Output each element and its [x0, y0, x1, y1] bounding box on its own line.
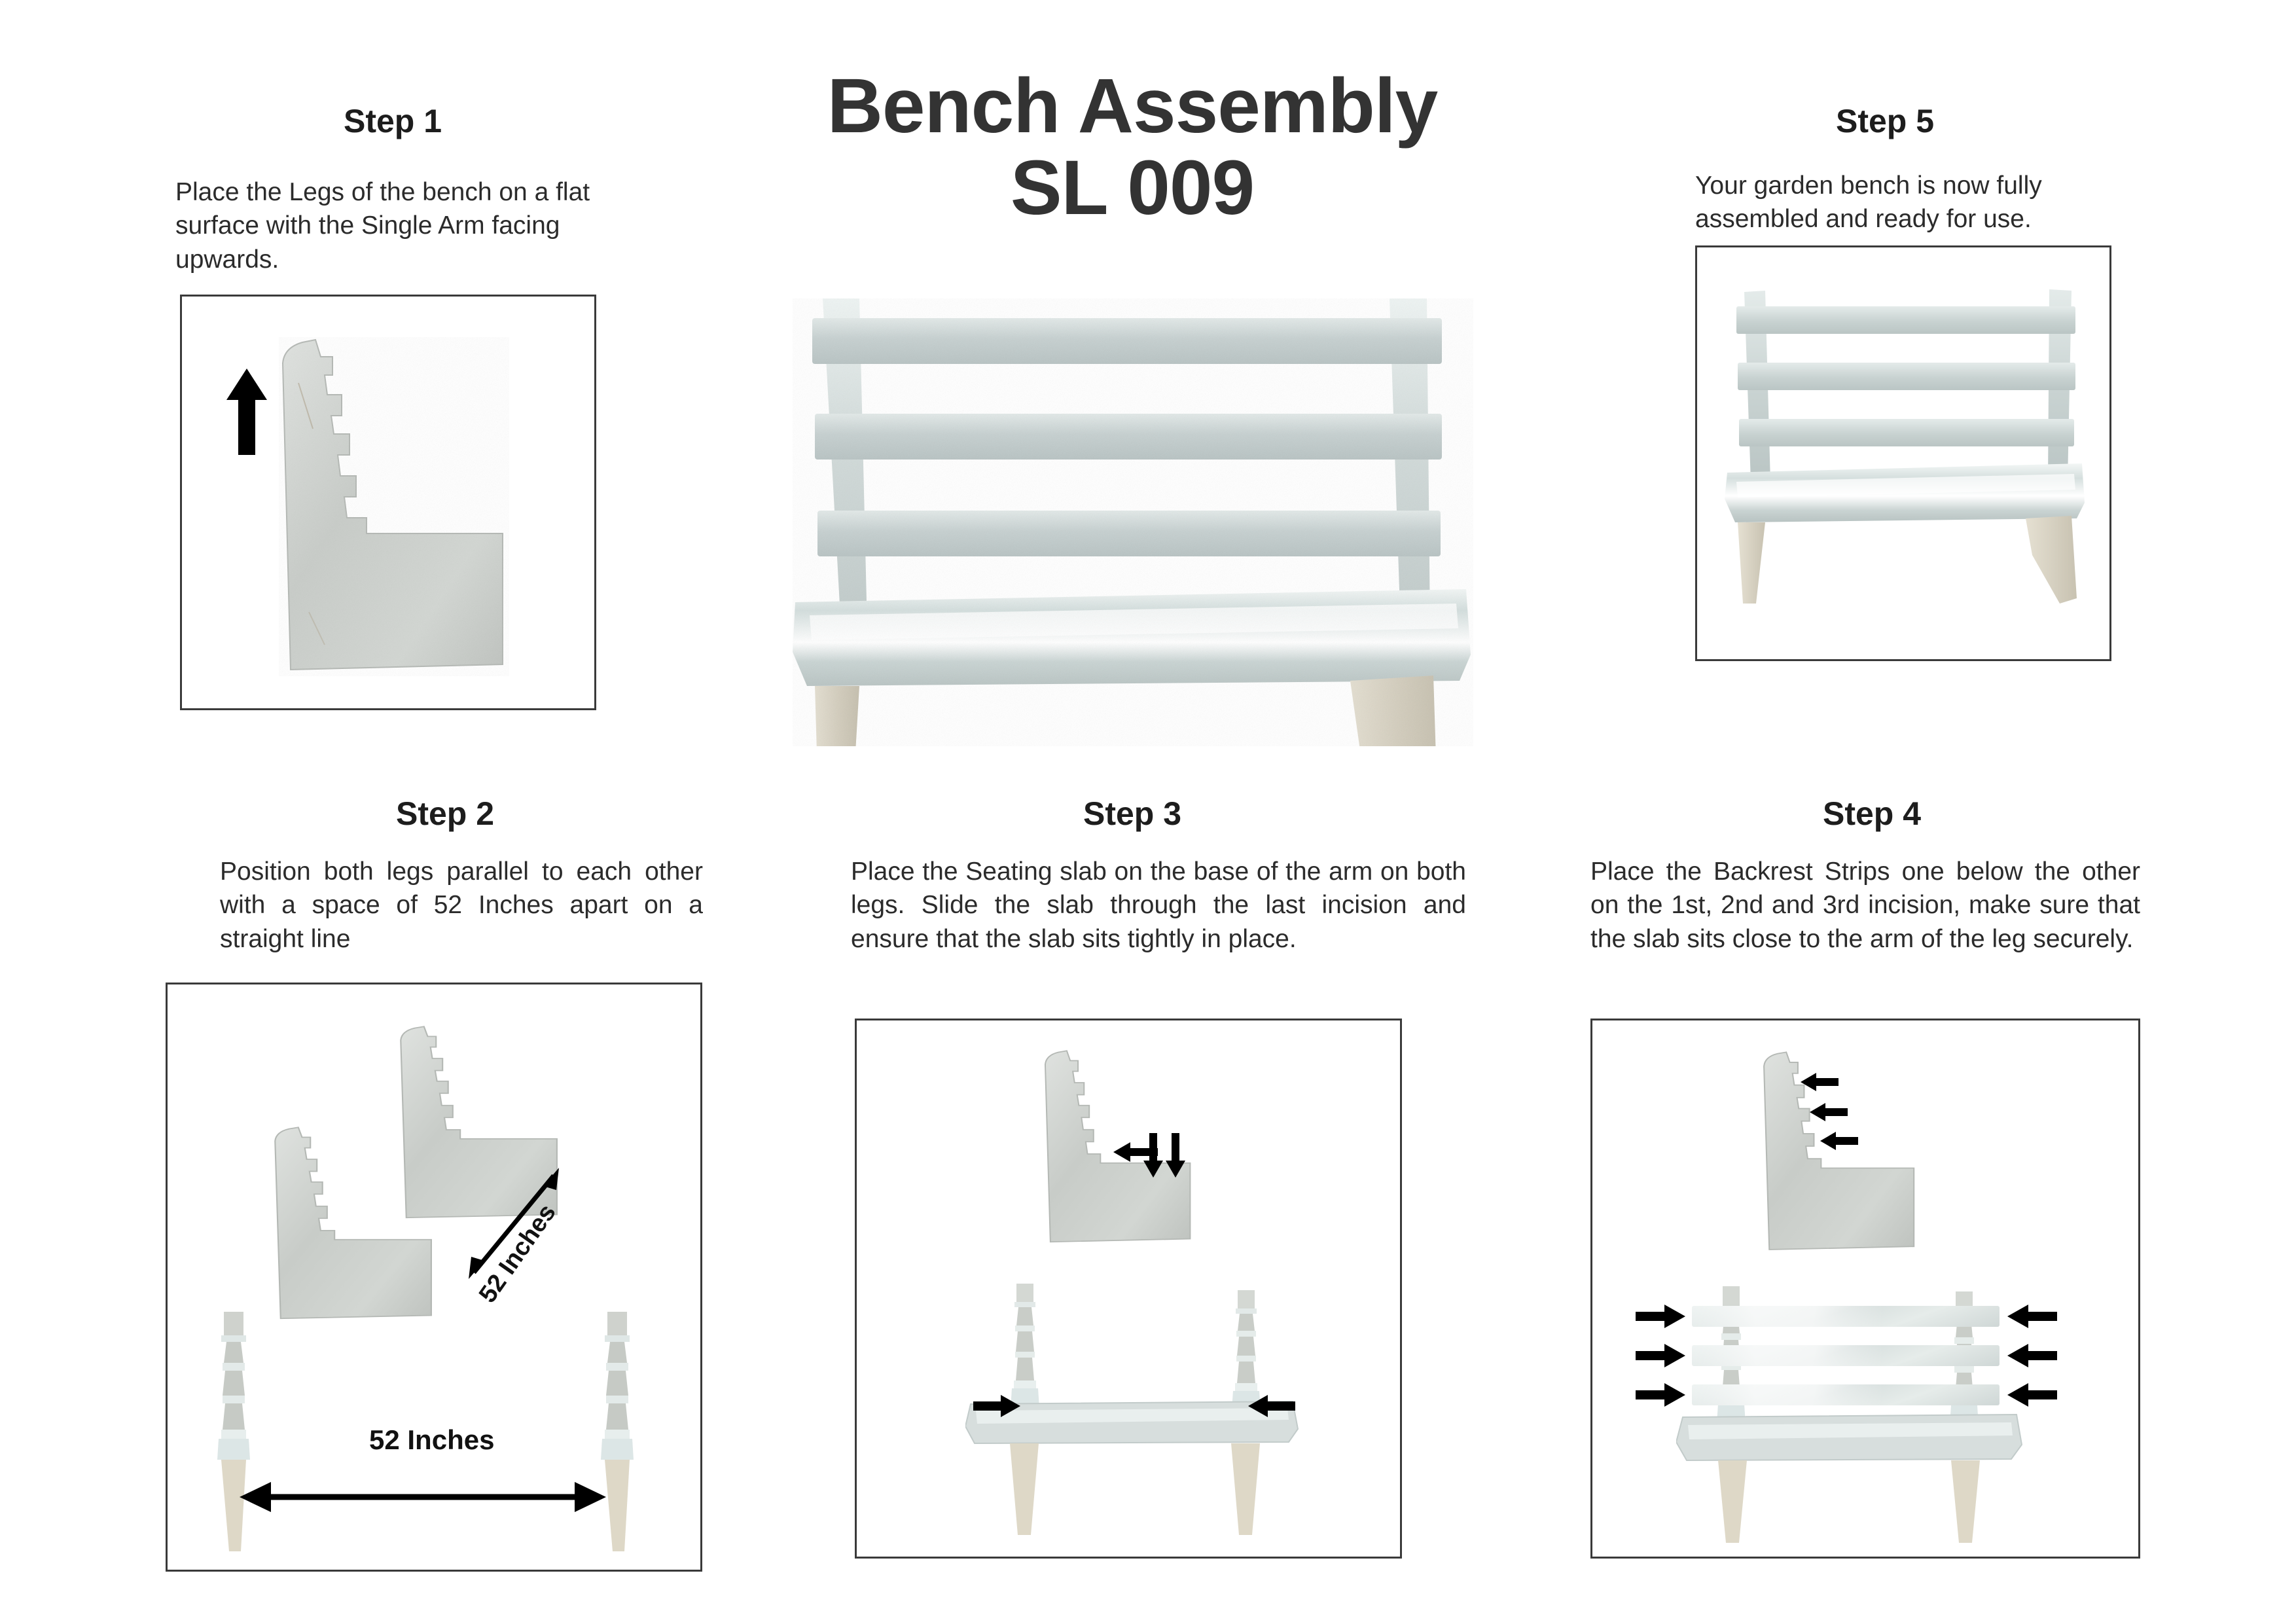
assembled-bench-svg: [1718, 285, 2092, 606]
step-4-description: Place the Backrest Strips one below the …: [1590, 855, 2140, 956]
bench-taper-leg-left: [1714, 1460, 1751, 1544]
backrest-strip-2: [1692, 1345, 2000, 1366]
horizontal-dimension-arrow: [240, 1479, 606, 1515]
assembled-bench-image: [1718, 285, 2092, 606]
bench-leg-shape-backrest: [1761, 1051, 1918, 1254]
step-1-heading: Step 1: [196, 105, 589, 137]
page-title: Bench Assembly SL 009: [720, 65, 1545, 229]
backrest-strip-1: [1692, 1306, 2000, 1327]
inward-arrow-right-strip-1: [2007, 1305, 2057, 1328]
step-5-heading: Step 5: [1676, 105, 2094, 137]
left-arrow-icon-incision-2: [1810, 1103, 1848, 1121]
step-1-panel: [180, 295, 596, 710]
left-arrow-icon-incision-1: [1801, 1073, 1839, 1091]
seat-post-left: [1010, 1284, 1040, 1409]
bench-taper-leg-right: [1947, 1460, 1984, 1544]
hero-bench-image: [776, 262, 1482, 746]
inward-arrow-left-strip-1: [1636, 1305, 1685, 1328]
step-1-description: Place the Legs of the bench on a flat su…: [175, 175, 607, 276]
step-5-description: Your garden bench is now fully assembled…: [1695, 169, 2114, 236]
page-title-line-2: SL 009: [720, 147, 1545, 229]
page-title-line-1: Bench Assembly: [720, 65, 1545, 147]
inward-arrow-right-strip-3: [2007, 1383, 2057, 1407]
step-2-heading: Step 2: [249, 797, 641, 830]
bench-seat-slab: [1676, 1413, 2023, 1464]
left-arrow-icon-incision-3: [1820, 1132, 1858, 1150]
step-2-panel: 52 Inches 52 Inche: [166, 983, 702, 1572]
step-3-description: Place the Seating slab on the base of th…: [851, 855, 1466, 956]
down-arrow-icon-1: [1143, 1133, 1163, 1178]
horizontal-52-inches-label: 52 Inches: [369, 1424, 494, 1456]
inward-arrow-right: [1248, 1395, 1295, 1417]
bench-leg-shape: [279, 337, 509, 676]
hero-bench-svg: [776, 262, 1482, 746]
down-arrow-icon-2: [1166, 1133, 1185, 1178]
inward-arrow-right-strip-2: [2007, 1344, 2057, 1367]
up-arrow-icon: [226, 369, 267, 455]
inward-arrow-left-strip-2: [1636, 1344, 1685, 1367]
bench-leg-shape-front: [272, 1126, 436, 1322]
step-3-panel: [855, 1019, 1402, 1559]
step-3-heading: Step 3: [936, 797, 1329, 830]
front-leg-left: [215, 1312, 253, 1554]
seat-post-right: [1231, 1290, 1261, 1411]
front-leg-right: [598, 1312, 636, 1554]
step-4-heading: Step 4: [1676, 797, 2068, 830]
backrest-strip-3: [1692, 1384, 2000, 1405]
inward-arrow-left-strip-3: [1636, 1383, 1685, 1407]
inward-arrow-left: [973, 1395, 1020, 1417]
step-5-panel: [1695, 245, 2111, 661]
seat-taper-leg-left: [1006, 1443, 1043, 1536]
step-4-panel: [1590, 1019, 2140, 1559]
seat-taper-leg-right: [1227, 1443, 1264, 1536]
step-2-description: Position both legs parallel to each othe…: [220, 855, 703, 956]
